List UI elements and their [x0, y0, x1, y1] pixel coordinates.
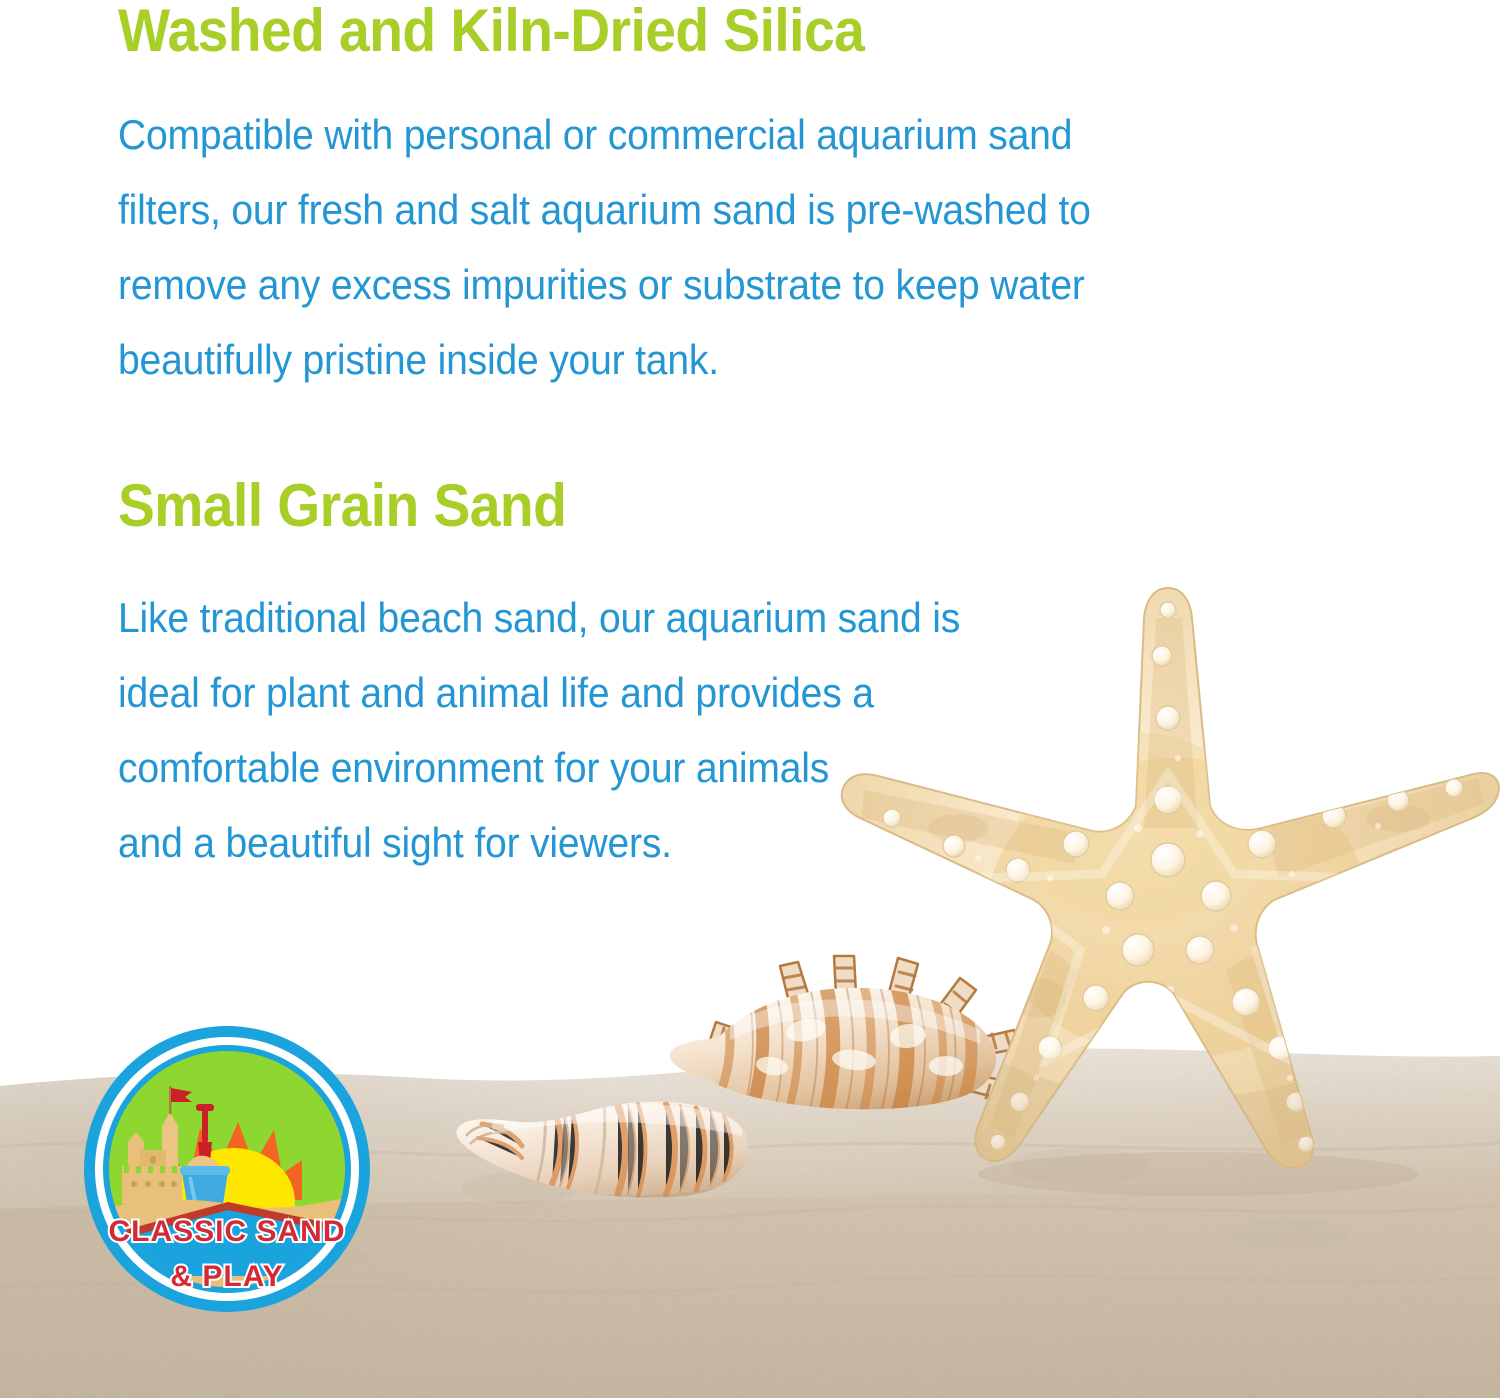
logo-illustration: CLASSIC SAND & PLAY — [78, 1024, 376, 1314]
section-paragraph-2: Like traditional beach sand, our aquariu… — [118, 580, 1160, 880]
product-feature-panel: CLASSIC SAND & PLAY Washed and Kiln-Drie… — [0, 0, 1500, 1398]
paragraph-line: filters, our fresh and salt aquarium san… — [118, 172, 1290, 247]
paragraph-line: remove any excess impurities or substrat… — [118, 247, 1290, 322]
cone-spiral-seashell — [452, 1060, 757, 1200]
paragraph-line: beautifully pristine inside your tank. — [118, 322, 1290, 397]
classic-sand-and-play-logo[interactable]: CLASSIC SAND & PLAY — [78, 1024, 376, 1314]
section-paragraph-1: Compatible with personal or commercial a… — [118, 97, 1290, 397]
section-heading-washed-kiln-dried-silica: Washed and Kiln-Dried Silica — [118, 0, 864, 64]
logo-line-2: & PLAY — [170, 1260, 283, 1293]
paragraph-line: comfortable environment for your animals — [118, 730, 1160, 805]
section-heading-small-grain-sand: Small Grain Sand — [118, 473, 566, 539]
paragraph-line: Compatible with personal or commercial a… — [118, 97, 1290, 172]
logo-line-1: CLASSIC SAND — [108, 1215, 345, 1248]
paragraph-line: Like traditional beach sand, our aquariu… — [118, 580, 1160, 655]
paragraph-line: and a beautiful sight for viewers. — [118, 805, 1160, 880]
paragraph-line: ideal for plant and animal life and prov… — [118, 655, 1160, 730]
